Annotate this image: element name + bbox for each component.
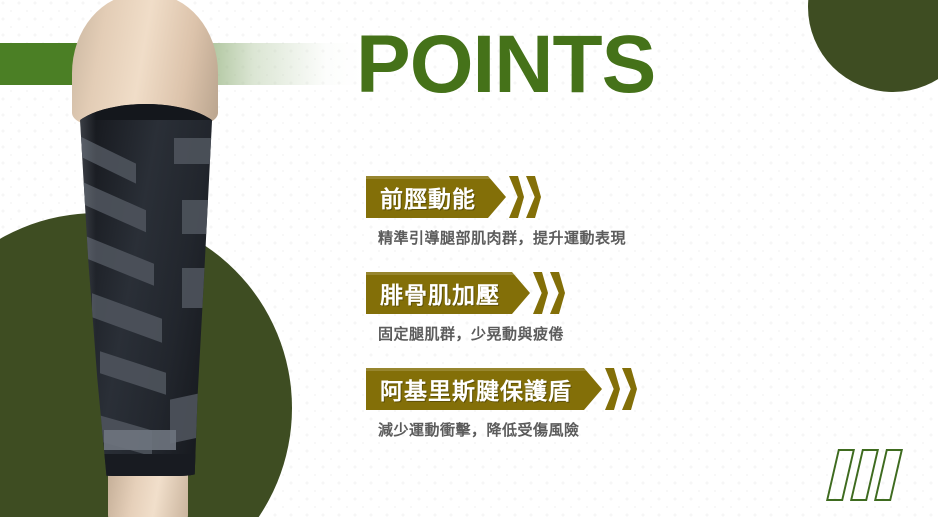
chevron-right-icon: [605, 368, 620, 410]
chevron-right-icon: [533, 272, 548, 314]
chevron-double-right-icon: [509, 176, 543, 218]
slant-bar: [874, 449, 903, 501]
page-title: POINTS: [356, 24, 655, 106]
chevron-double-right-icon: [605, 368, 639, 410]
knit-panel: [182, 268, 212, 308]
feature-banner-row-3: 阿基里斯腱保護盾: [366, 368, 696, 410]
feature-item-1: 前脛動能 精準引導腿部肌肉群，提升運動表現: [366, 176, 696, 248]
compression-sleeve: [70, 104, 222, 476]
top-right-circle-decoration: [808, 0, 938, 92]
knit-panel: [104, 430, 176, 450]
chevron-right-icon: [622, 368, 637, 410]
feature-subtitle-2: 固定腿肌群，少晃動與疲倦: [366, 323, 696, 344]
knit-panel: [100, 351, 166, 394]
chevron-right-icon: [526, 176, 541, 218]
slide-canvas: POINTS 前脛動能 精準引導腿部肌肉群，提升運動表現 腓骨肌加壓 固定腿肌群: [0, 0, 938, 517]
sleeve-bottom-cuff: [70, 454, 222, 476]
chevron-double-right-icon: [533, 272, 567, 314]
chevron-right-icon: [550, 272, 565, 314]
knit-panel: [182, 200, 216, 234]
feature-label-3: 阿基里斯腱保護盾: [366, 368, 602, 410]
feature-label-2: 腓骨肌加壓: [366, 272, 530, 314]
feature-banner-row-2: 腓骨肌加壓: [366, 272, 696, 314]
product-photo-calf-sleeve: [62, 0, 248, 517]
knit-panel: [92, 293, 162, 342]
feature-list: 前脛動能 精準引導腿部肌肉群，提升運動表現 腓骨肌加壓 固定腿肌群，少晃動與疲倦…: [366, 176, 696, 440]
sleeve-highlight-edge: [74, 104, 96, 476]
knit-panel: [86, 236, 154, 285]
slant-bars-decoration: [832, 449, 910, 505]
feature-item-2: 腓骨肌加壓 固定腿肌群，少晃動與疲倦: [366, 272, 696, 344]
knit-panel: [174, 138, 214, 164]
chevron-right-icon: [509, 176, 524, 218]
feature-label-1: 前脛動能: [366, 176, 506, 218]
feature-subtitle-3: 減少運動衝擊，降低受傷風險: [366, 419, 696, 440]
feature-subtitle-1: 精準引導腿部肌肉群，提升運動表現: [366, 227, 696, 248]
feature-banner-row-1: 前脛動能: [366, 176, 696, 218]
feature-item-3: 阿基里斯腱保護盾 減少運動衝擊，降低受傷風險: [366, 368, 696, 440]
